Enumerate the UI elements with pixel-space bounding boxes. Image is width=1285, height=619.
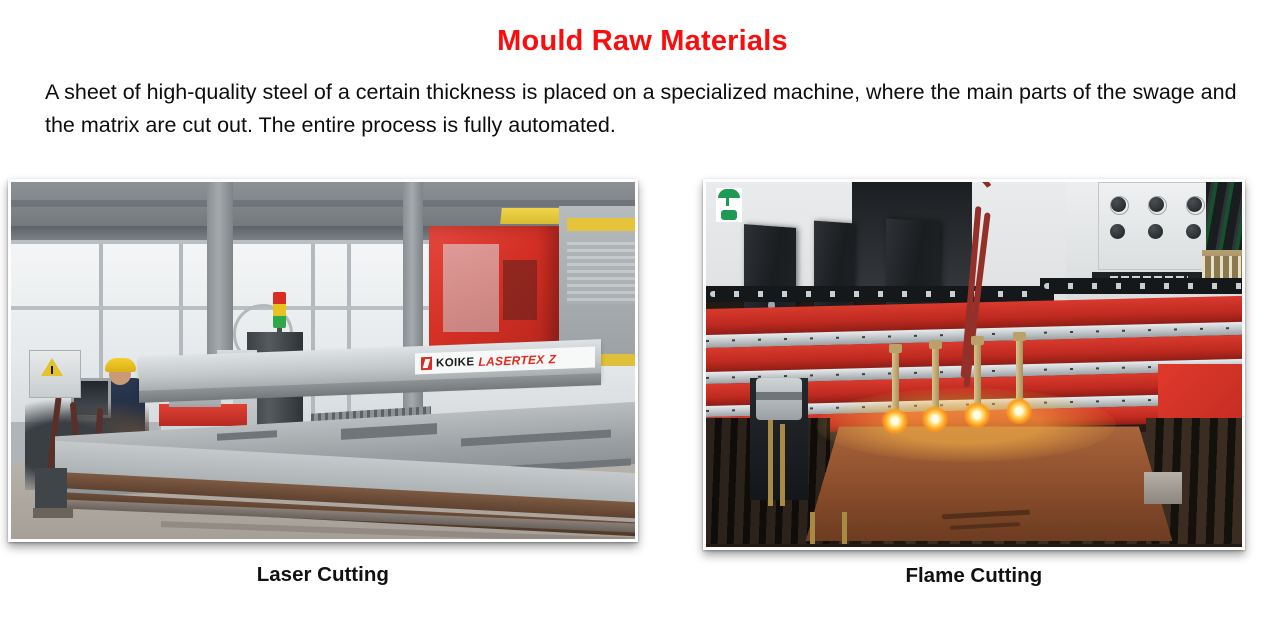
hard-hat-icon — [105, 358, 136, 372]
floor-pallet — [33, 508, 73, 518]
warning-triangle-mark — [51, 366, 53, 374]
housing-access-panel — [443, 244, 499, 332]
control-knob[interactable] — [1111, 197, 1126, 212]
caption-laser-cutting: Laser Cutting — [8, 563, 638, 587]
control-knob[interactable] — [1149, 197, 1164, 212]
console-red-band — [159, 404, 247, 426]
torch-head — [889, 344, 902, 353]
photo-laser-cutting: KOIKE LASERTEX Z — [8, 179, 638, 542]
torch-lance — [842, 512, 847, 544]
stack-light-pole — [277, 326, 282, 340]
cabinet-yellow-label — [567, 218, 638, 231]
intro-paragraph: A sheet of high-quality steel of a certa… — [0, 58, 1285, 141]
laser-cutting-scene: KOIKE LASERTEX Z — [11, 182, 635, 539]
flame-cutting-scene — [706, 182, 1242, 547]
figure-laser-cutting: KOIKE LASERTEX Z Laser Cutt — [8, 179, 638, 587]
cutting-torch — [1016, 340, 1023, 406]
cutting-flame-icon — [1006, 398, 1032, 424]
caption-flame-cutting: Flame Cutting — [703, 564, 1245, 588]
stack-light-icon — [273, 292, 286, 328]
figure-flame-cutting: Flame Cutting — [703, 179, 1245, 588]
koike-logo-icon — [421, 357, 432, 370]
window-mullion — [347, 244, 351, 422]
torch-head — [1013, 332, 1026, 341]
torch-lance — [810, 512, 815, 544]
torch-lance — [780, 424, 785, 506]
brand-name: KOIKE — [436, 356, 474, 369]
control-button[interactable] — [1110, 224, 1125, 239]
figure-row: KOIKE LASERTEX Z Laser Cutt — [0, 141, 1285, 604]
floor-brick — [1144, 472, 1182, 504]
torch-lance — [768, 420, 773, 506]
green-safety-sign-icon — [716, 188, 742, 222]
cutting-flame-icon — [922, 406, 948, 432]
control-knob[interactable] — [1187, 197, 1202, 212]
control-button[interactable] — [1148, 224, 1163, 239]
control-button[interactable] — [1186, 224, 1201, 239]
housing-dark-inset — [503, 260, 537, 320]
floor-equipment — [35, 468, 67, 510]
brand-series: Z — [549, 352, 556, 366]
cutting-torch — [892, 352, 899, 416]
ceiling-beam-upper — [11, 200, 635, 207]
cutting-flame-icon — [964, 402, 990, 428]
cutting-torch — [932, 348, 939, 414]
gantry-rail-bar — [1040, 278, 1245, 294]
cutting-flame-icon — [882, 408, 908, 434]
page-title: Mould Raw Materials — [0, 0, 1285, 58]
gantry-rail-bar — [706, 286, 1054, 302]
cutting-torch — [974, 344, 981, 410]
torch-head — [929, 340, 942, 349]
gas-canister — [756, 378, 802, 420]
safety-sign-stem — [726, 196, 729, 206]
torch-head — [971, 336, 984, 345]
brand-model: LASERTEX — [478, 352, 544, 369]
photo-flame-cutting — [703, 179, 1245, 550]
flame-glow — [816, 388, 1116, 462]
cabinet-vents — [567, 242, 638, 304]
